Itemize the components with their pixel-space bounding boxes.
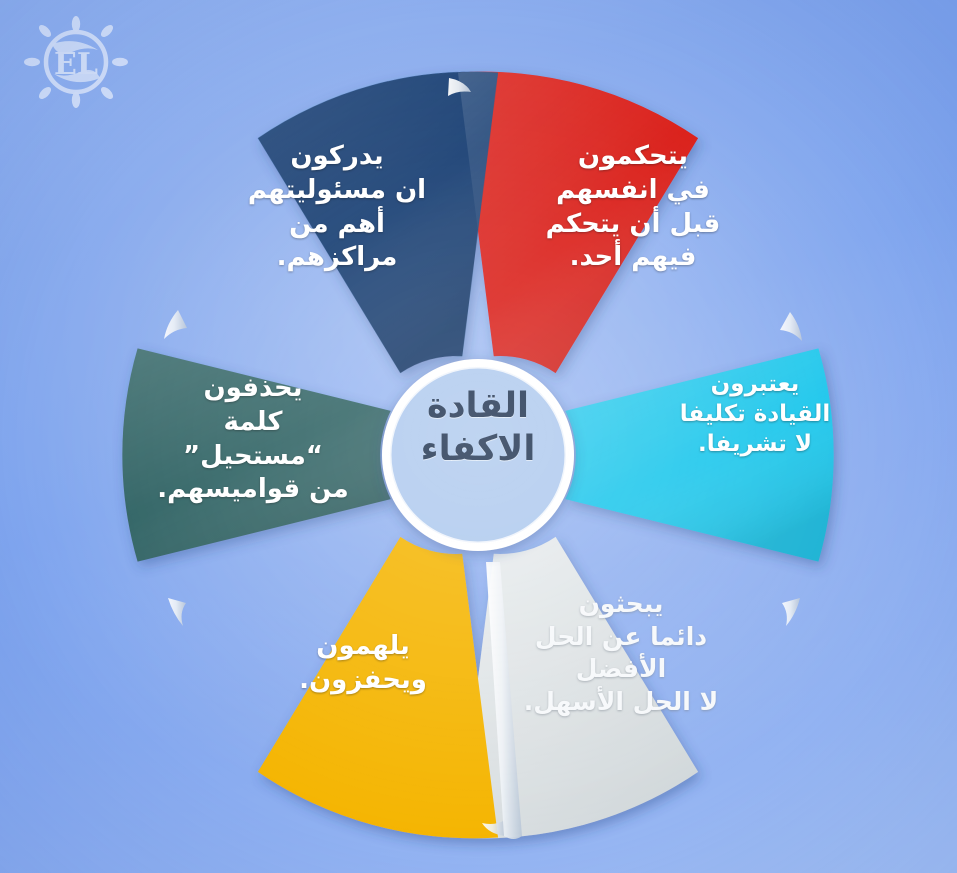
leadership-wheel [0,0,957,873]
segment-inspire-motivate[interactable] [246,533,498,850]
segment-responsibility-over-position[interactable] [246,60,498,377]
center-hub[interactable] [382,359,574,551]
segment-self-control[interactable] [458,60,710,377]
segment-duty-not-honor[interactable] [565,348,833,561]
infographic-canvas: EL [0,0,957,873]
segment-no-impossible[interactable] [122,348,390,561]
